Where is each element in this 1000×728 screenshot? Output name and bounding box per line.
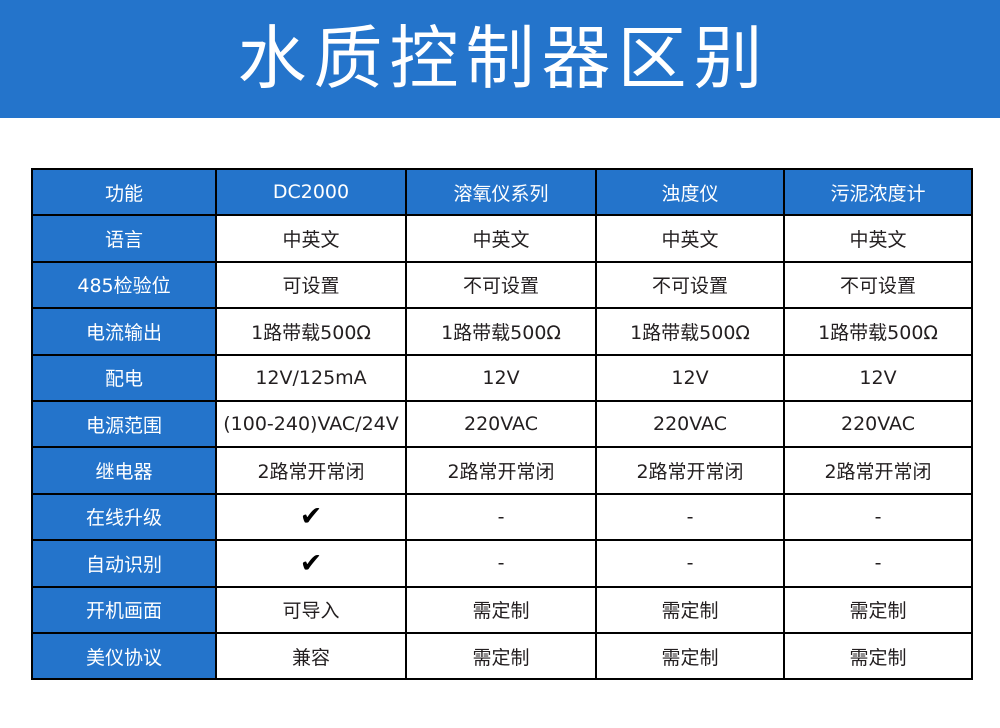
table-cell: 需定制 <box>784 587 972 633</box>
column-header-3: 浊度仪 <box>596 169 784 215</box>
table-cell: 需定制 <box>596 633 784 679</box>
table-cell: 中英文 <box>784 215 972 261</box>
table-cell: 2路常开常闭 <box>216 447 406 493</box>
table-cell: 需定制 <box>406 633 596 679</box>
check-glyph: ✔ <box>300 548 323 579</box>
comparison-sheet: 功能DC2000溶氧仪系列浊度仪污泥浓度计语言中英文中英文中英文中英文485检验… <box>0 118 1000 728</box>
dash-glyph: - <box>498 506 505 528</box>
table-row: 配电12V/125mA12V12V12V <box>32 355 972 401</box>
table-cell: 可设置 <box>216 262 406 308</box>
table-cell: 1路带载500Ω <box>596 308 784 354</box>
table-cell-empty: - <box>784 494 972 540</box>
table-cell-empty: - <box>596 540 784 586</box>
row-label: 自动识别 <box>32 540 216 586</box>
row-label: 继电器 <box>32 447 216 493</box>
table-cell: 中英文 <box>406 215 596 261</box>
dash-glyph: - <box>498 552 505 574</box>
table-row: 开机画面可导入需定制需定制需定制 <box>32 587 972 633</box>
table-cell-empty: - <box>784 540 972 586</box>
table-cell: 12V <box>596 355 784 401</box>
row-label: 开机画面 <box>32 587 216 633</box>
table-cell: 不可设置 <box>784 262 972 308</box>
table-cell-empty: - <box>596 494 784 540</box>
table-row: 自动识别✔--- <box>32 540 972 586</box>
table-cell: 220VAC <box>596 401 784 447</box>
row-label: 485检验位 <box>32 262 216 308</box>
check-icon: ✔ <box>216 540 406 586</box>
table-cell: 12V <box>784 355 972 401</box>
table-cell: 可导入 <box>216 587 406 633</box>
row-label: 语言 <box>32 215 216 261</box>
table-row: 语言中英文中英文中英文中英文 <box>32 215 972 261</box>
table-cell: 需定制 <box>596 587 784 633</box>
table-row: 电源范围(100-240)VAC/24V220VAC220VAC220VAC <box>32 401 972 447</box>
page-title: 水质控制器区别 <box>231 25 770 94</box>
row-label: 在线升级 <box>32 494 216 540</box>
table-cell: 220VAC <box>406 401 596 447</box>
table-cell: 兼容 <box>216 633 406 679</box>
page-banner: 水质控制器区别 <box>0 0 1000 118</box>
table-cell-empty: - <box>406 540 596 586</box>
table-cell: 需定制 <box>784 633 972 679</box>
table-header-row: 功能DC2000溶氧仪系列浊度仪污泥浓度计 <box>32 169 972 215</box>
check-icon: ✔ <box>216 494 406 540</box>
comparison-table: 功能DC2000溶氧仪系列浊度仪污泥浓度计语言中英文中英文中英文中英文485检验… <box>31 168 973 680</box>
table-cell: 需定制 <box>406 587 596 633</box>
table-row: 在线升级✔--- <box>32 494 972 540</box>
dash-glyph: - <box>875 552 882 574</box>
row-label: 电源范围 <box>32 401 216 447</box>
row-label: 美仪协议 <box>32 633 216 679</box>
dash-glyph: - <box>687 506 694 528</box>
table-cell: 1路带载500Ω <box>216 308 406 354</box>
dash-glyph: - <box>875 506 882 528</box>
row-label: 配电 <box>32 355 216 401</box>
check-glyph: ✔ <box>300 501 323 532</box>
table-cell-empty: - <box>406 494 596 540</box>
table-cell: 2路常开常闭 <box>596 447 784 493</box>
table-cell: 不可设置 <box>406 262 596 308</box>
table-cell: 2路常开常闭 <box>406 447 596 493</box>
dash-glyph: - <box>687 552 694 574</box>
column-header-1: DC2000 <box>216 169 406 215</box>
table-cell: 220VAC <box>784 401 972 447</box>
column-header-2: 溶氧仪系列 <box>406 169 596 215</box>
table-cell: 1路带载500Ω <box>406 308 596 354</box>
table-cell: 1路带载500Ω <box>784 308 972 354</box>
table-cell: 中英文 <box>596 215 784 261</box>
table-cell: 12V <box>406 355 596 401</box>
table-row: 485检验位可设置不可设置不可设置不可设置 <box>32 262 972 308</box>
table-row: 继电器2路常开常闭2路常开常闭2路常开常闭2路常开常闭 <box>32 447 972 493</box>
row-label: 电流输出 <box>32 308 216 354</box>
column-header-feature: 功能 <box>32 169 216 215</box>
table-cell: 中英文 <box>216 215 406 261</box>
table-row: 电流输出1路带载500Ω1路带载500Ω1路带载500Ω1路带载500Ω <box>32 308 972 354</box>
table-cell: (100-240)VAC/24V <box>216 401 406 447</box>
column-header-4: 污泥浓度计 <box>784 169 972 215</box>
table-cell: 不可设置 <box>596 262 784 308</box>
table-cell: 2路常开常闭 <box>784 447 972 493</box>
table-cell: 12V/125mA <box>216 355 406 401</box>
table-body: 功能DC2000溶氧仪系列浊度仪污泥浓度计语言中英文中英文中英文中英文485检验… <box>32 169 972 679</box>
table-row: 美仪协议兼容需定制需定制需定制 <box>32 633 972 679</box>
